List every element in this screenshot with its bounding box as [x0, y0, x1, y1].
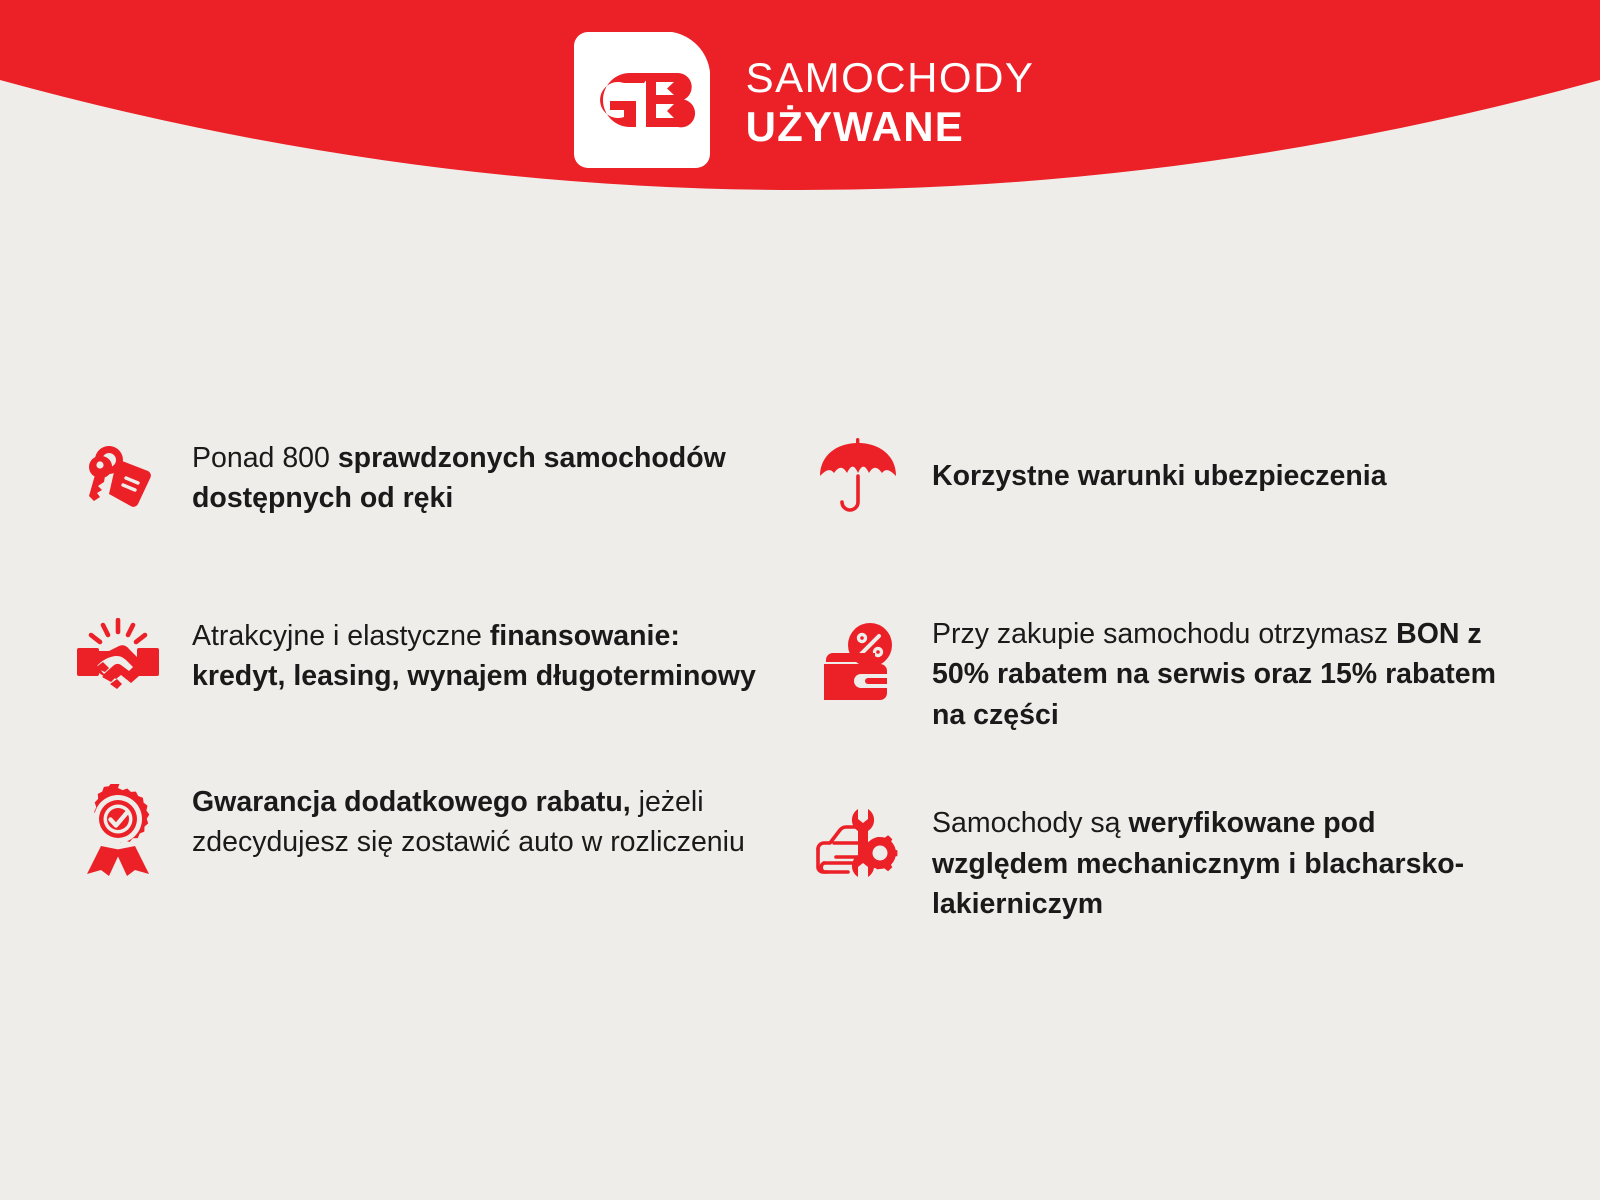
feature-lead: Ponad 800	[192, 442, 338, 474]
feature-item: Korzystne warunki ubezpieczenia	[810, 430, 1530, 528]
feature-item: Atrakcyjne i elastyczne finansowanie: kr…	[70, 608, 790, 714]
feature-lead: Atrakcyjne i elastyczne	[192, 620, 490, 652]
feature-column-left: Ponad 800 sprawdzonych samochodów dostęp…	[70, 430, 790, 977]
feature-emphasis: Gwarancja dodatkowego rabatu,	[192, 786, 631, 818]
feature-text: Samochody są weryfikowane pod względem m…	[932, 795, 1512, 924]
key-tag-icon	[70, 430, 166, 530]
feature-item: Ponad 800 sprawdzonych samochodów dostęp…	[70, 430, 790, 530]
feature-text: Gwarancja dodatkowego rabatu, jeżeli zde…	[192, 774, 772, 863]
umbrella-icon	[810, 430, 906, 528]
feature-lead: Przy zakupie samochodu otrzymasz	[932, 618, 1396, 650]
feature-text: Przy zakupie samochodu otrzymasz BON z 5…	[932, 606, 1512, 735]
feature-item: Przy zakupie samochodu otrzymasz BON z 5…	[810, 606, 1530, 735]
feature-item: Samochody są weryfikowane pod względem m…	[810, 795, 1530, 924]
feature-grid: Ponad 800 sprawdzonych samochodów dostęp…	[0, 430, 1600, 977]
feature-item: Gwarancja dodatkowego rabatu, jeżeli zde…	[70, 774, 790, 880]
feature-text: Ponad 800 sprawdzonych samochodów dostęp…	[192, 430, 772, 519]
car-wrench-gear-icon	[810, 795, 906, 897]
header-curve-shape	[0, 0, 1600, 190]
handshake-icon	[70, 608, 166, 714]
wallet-percent-icon	[810, 606, 906, 716]
feature-lead: Samochody są	[932, 807, 1128, 839]
header-banner	[0, 0, 1600, 260]
award-badge-icon	[70, 774, 166, 880]
feature-column-right: Korzystne warunki ubezpieczenia	[810, 430, 1530, 977]
feature-text: Atrakcyjne i elastyczne finansowanie: kr…	[192, 608, 772, 697]
feature-emphasis: Korzystne warunki ubezpieczenia	[932, 460, 1387, 492]
feature-text: Korzystne warunki ubezpieczenia	[932, 430, 1387, 496]
